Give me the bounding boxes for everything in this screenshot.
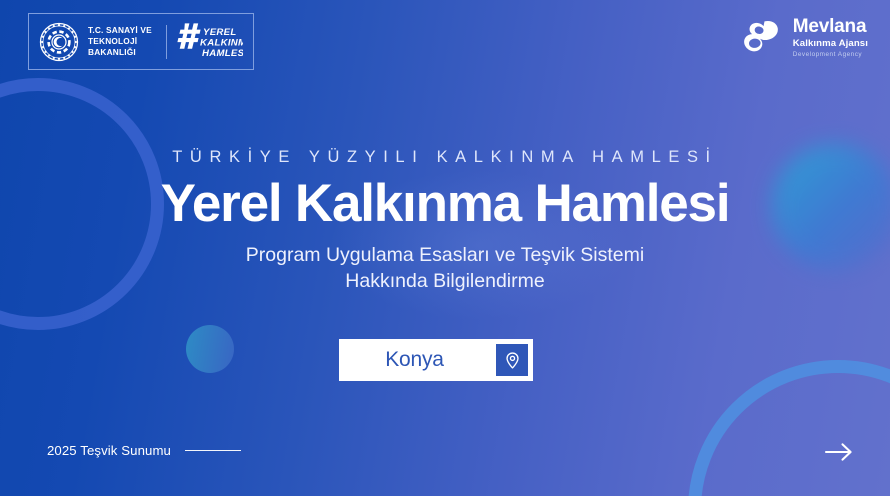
eyebrow-label: TÜRKİYE YÜZYILI KALKINMA HAMLESİ — [172, 148, 718, 167]
slide-main-content: TÜRKİYE YÜZYILI KALKINMA HAMLESİ Yerel K… — [0, 0, 890, 496]
page-title: Yerel Kalkınma Hamlesi — [161, 176, 730, 232]
location-label: Konya — [339, 348, 496, 372]
subtitle-line-1: Program Uygulama Esasları ve Teşvik Sist… — [246, 243, 644, 268]
footer-left-block: 2025 Teşvik Sunumu — [47, 443, 241, 458]
next-slide-button[interactable] — [824, 440, 854, 464]
map-pin-icon — [503, 351, 522, 370]
subtitle-block: Program Uygulama Esasları ve Teşvik Sist… — [246, 243, 644, 294]
subtitle-line-2: Hakkında Bilgilendirme — [246, 269, 644, 294]
footer-rule — [185, 450, 241, 452]
arrow-right-icon — [824, 440, 854, 464]
footer-caption: 2025 Teşvik Sunumu — [47, 443, 171, 458]
location-chip[interactable]: Konya — [339, 339, 533, 381]
location-pin-button[interactable] — [496, 344, 528, 376]
presentation-slide: T.C. SANAYİ VE TEKNOLOJİ BAKANLIĞI YEREL… — [0, 0, 890, 496]
